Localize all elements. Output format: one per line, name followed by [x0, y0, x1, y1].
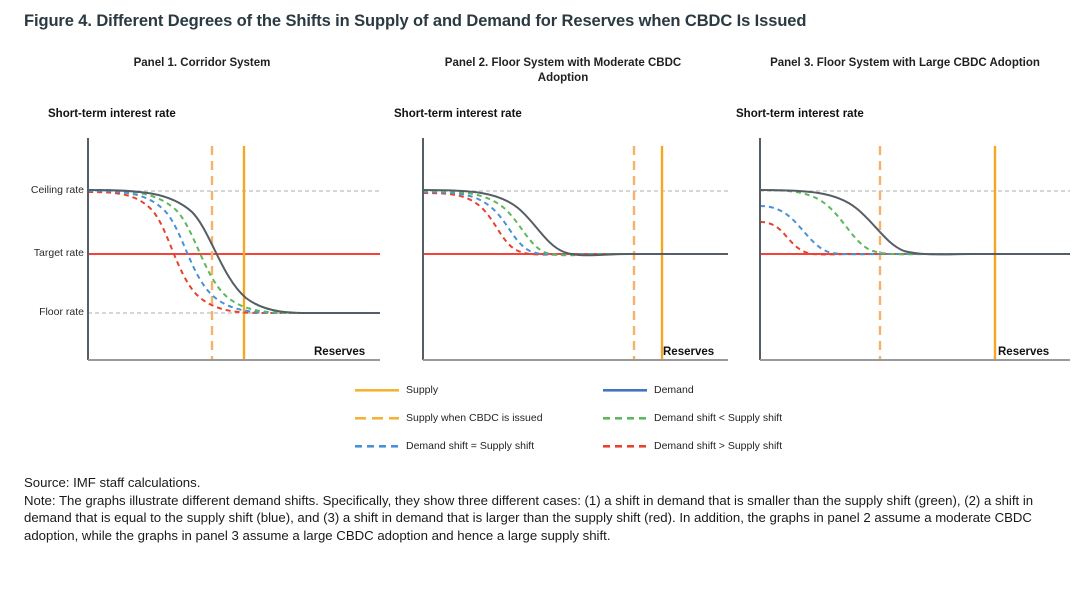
panel-2-curve-demand-lt [423, 191, 728, 255]
legend-swatch-demand [603, 384, 647, 396]
panel-3-curve-demand-eq [760, 206, 1070, 254]
panel-1-curve-demand [88, 190, 380, 313]
panel-2-curve-demand-eq [423, 192, 728, 255]
legend-swatch-demand-shift-eq-supply-shift [355, 440, 399, 452]
legend-label-supply-when-cbdc-is-issued: Supply when CBDC is issued [406, 412, 543, 424]
panel-3-curve-demand-lt [760, 190, 1070, 254]
legend-swatch-demand-shift-lt-supply-shift [603, 412, 647, 424]
panel-2: Panel 2. Floor System with Moderate CBDC… [398, 56, 728, 366]
legend-swatch-supply [355, 384, 399, 396]
chart-legend: Supply Demand Supply when CBDC is issued… [355, 380, 825, 456]
panel-1-curve-demand-lt [88, 190, 380, 313]
panel-3-curve-demand-gt [760, 222, 1070, 254]
panel-2-plot [398, 124, 728, 384]
footnotes: Source: IMF staff calculations. Note: Th… [24, 474, 1068, 544]
panel-1-title: Panel 1. Corridor System [24, 56, 380, 71]
panel-3-x-axis-label: Reserves [998, 346, 1049, 358]
legend-swatch-supply-when-cbdc-is-issued [355, 412, 399, 424]
panel-2-x-axis-label: Reserves [663, 346, 714, 358]
legend-item-demand-shift-gt-supply-shift: Demand shift > Supply shift [603, 436, 782, 456]
legend-item-demand-shift-lt-supply-shift: Demand shift < Supply shift [603, 408, 782, 428]
legend-label-demand-shift-lt-supply-shift: Demand shift < Supply shift [654, 412, 782, 424]
note-text: Note: The graphs illustrate different de… [24, 492, 1068, 545]
legend-label-demand-shift-gt-supply-shift: Demand shift > Supply shift [654, 440, 782, 452]
panel-3: Panel 3. Floor System with Large CBDC Ad… [740, 56, 1070, 366]
panel-2-y-axis-label: Short-term interest rate [394, 108, 522, 120]
legend-item-supply-when-cbdc-is-issued: Supply when CBDC is issued [355, 408, 543, 428]
legend-label-demand: Demand [654, 384, 694, 396]
panel-3-curve-demand [760, 190, 1070, 254]
panel-1-curve-demand-eq [88, 191, 380, 313]
legend-item-demand-shift-eq-supply-shift: Demand shift = Supply shift [355, 436, 534, 456]
legend-swatch-demand-shift-gt-supply-shift [603, 440, 647, 452]
panel-2-curve-demand-gt [423, 193, 728, 255]
legend-item-demand: Demand [603, 380, 694, 400]
panel-1-x-axis-label: Reserves [314, 346, 365, 358]
panel-3-y-axis-label: Short-term interest rate [736, 108, 864, 120]
legend-item-supply: Supply [355, 380, 438, 400]
panel-1-y-axis-label: Short-term interest rate [48, 108, 176, 120]
panel-3-plot [740, 124, 1070, 384]
panel-1-plot [24, 124, 380, 384]
panel-1: Panel 1. Corridor System Short-term inte… [24, 56, 380, 366]
figure-title: Figure 4. Different Degrees of the Shift… [24, 12, 1064, 31]
legend-label-supply: Supply [406, 384, 438, 396]
panel-2-title: Panel 2. Floor System with Moderate CBDC… [398, 56, 728, 86]
panel-3-title: Panel 3. Floor System with Large CBDC Ad… [740, 56, 1070, 71]
source-text: Source: IMF staff calculations. [24, 474, 1068, 492]
panel-1-curve-demand-gt [88, 192, 380, 313]
legend-label-demand-shift-eq-supply-shift: Demand shift = Supply shift [406, 440, 534, 452]
